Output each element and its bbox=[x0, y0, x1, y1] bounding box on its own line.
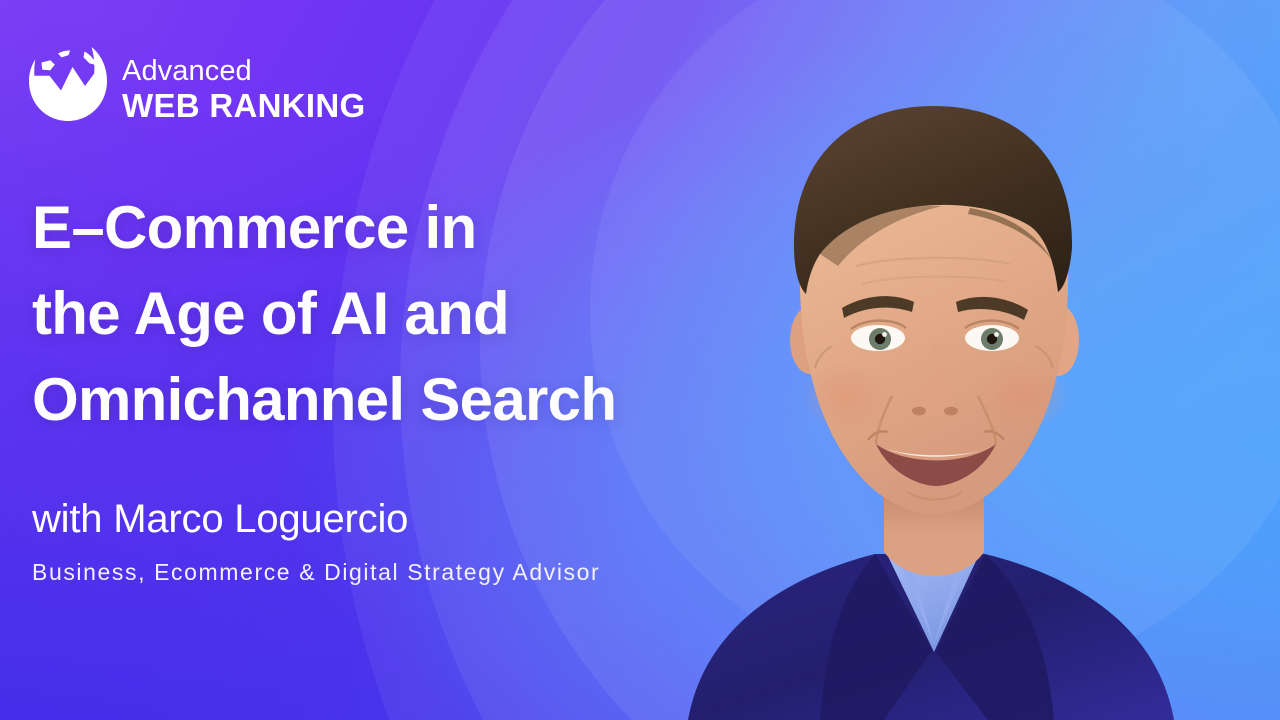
page-title: E–Commerce in the Age of AI and Omnichan… bbox=[32, 185, 732, 443]
speaker-portrait bbox=[670, 40, 1190, 720]
brand-wordmark: Advanced WEB RANKING bbox=[122, 54, 365, 122]
brand-name-line-1: Advanced bbox=[122, 57, 365, 86]
presenter-name: with Marco Loguercio bbox=[32, 497, 732, 541]
brand-logo[interactable]: Advanced WEB RANKING bbox=[28, 42, 365, 134]
headline-line-1: E–Commerce in bbox=[32, 185, 732, 271]
slide-copy: E–Commerce in the Age of AI and Omnichan… bbox=[32, 185, 732, 587]
presenter-role: Business, Ecommerce & Digital Strategy A… bbox=[32, 559, 732, 587]
headline-line-2: the Age of AI and bbox=[32, 271, 732, 357]
brand-name-line-2: WEB RANKING bbox=[122, 89, 365, 122]
slide-canvas: Advanced WEB RANKING E–Commerce in the A… bbox=[0, 0, 1280, 720]
headline-line-3: Omnichannel Search bbox=[32, 357, 732, 443]
globe-chart-icon bbox=[28, 42, 108, 134]
